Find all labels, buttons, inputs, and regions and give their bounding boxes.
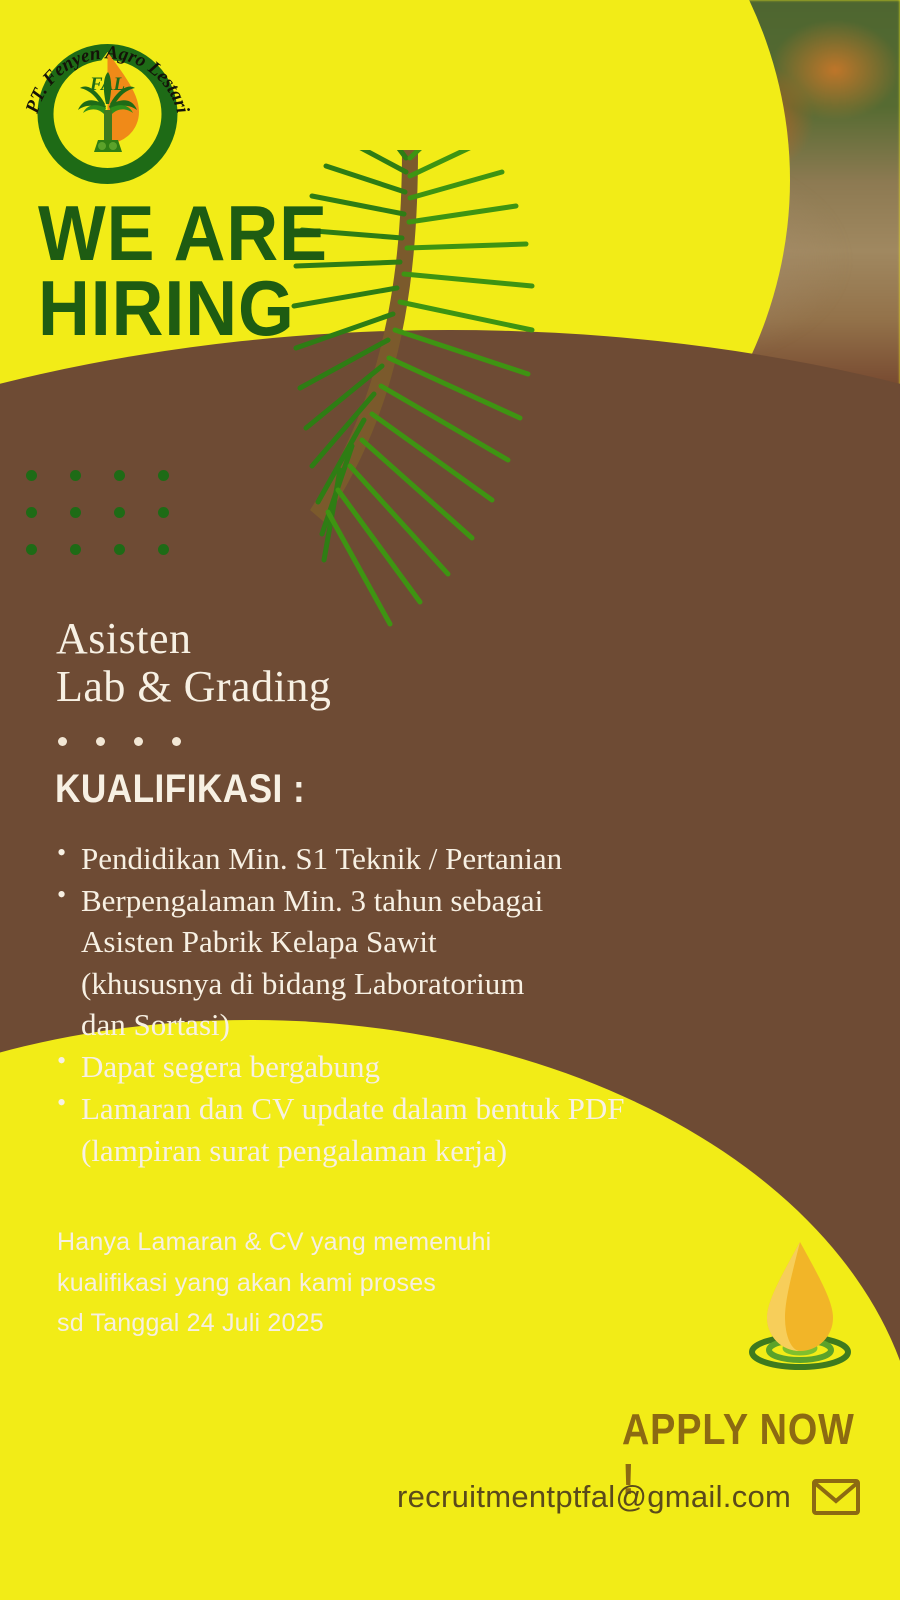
qualification-item: Berpengalaman Min. 3 tahun sebagaiAsiste… xyxy=(55,880,845,1045)
job-title-line-1: Asisten xyxy=(56,615,331,663)
dot-grid-decoration xyxy=(26,470,176,581)
qualification-continuation: Asisten Pabrik Kelapa Sawit xyxy=(81,921,845,962)
qualification-item: Pendidikan Min. S1 Teknik / Pertanian xyxy=(55,838,845,879)
qualifications-heading: KUALIFIKASI : xyxy=(55,767,305,812)
qualification-item: Lamaran dan CV update dalam bentuk PDF(l… xyxy=(55,1088,845,1170)
job-title: Asisten Lab & Grading xyxy=(56,615,331,710)
qualification-text: Berpengalaman Min. 3 tahun sebagai xyxy=(81,883,543,918)
envelope-icon xyxy=(811,1478,861,1516)
page-title: WE ARE HIRING xyxy=(38,196,328,346)
oil-drop-icon xyxy=(735,1230,865,1375)
note-line-3: sd Tanggal 24 Juli 2025 xyxy=(57,1303,491,1344)
job-title-line-2: Lab & Grading xyxy=(56,663,331,711)
dot-row-decoration xyxy=(58,737,181,746)
qualification-item: Dapat segera bergabung xyxy=(55,1046,845,1087)
note-line-2: kualifikasi yang akan kami proses xyxy=(57,1263,491,1304)
email-address[interactable]: recruitmentptfal@gmail.com xyxy=(397,1479,791,1515)
email-contact[interactable]: recruitmentptfal@gmail.com xyxy=(397,1478,861,1516)
headline-line-2: HIRING xyxy=(38,271,328,346)
qualifications-list: Pendidikan Min. S1 Teknik / PertanianBer… xyxy=(55,838,845,1172)
qualification-text: Lamaran dan CV update dalam bentuk PDF xyxy=(81,1091,625,1126)
qualification-continuation: (lampiran surat pengalaman kerja) xyxy=(81,1130,845,1171)
qualification-continuation: (khususnya di bidang Laboratorium xyxy=(81,963,845,1004)
qualification-text: Dapat segera bergabung xyxy=(81,1049,380,1084)
recruitment-poster: FAL PT. Fenyen Agro Lestari WE ARE HIRIN… xyxy=(0,0,900,1600)
qualification-text: Pendidikan Min. S1 Teknik / Pertanian xyxy=(81,841,562,876)
logo-initials: FAL xyxy=(89,74,125,95)
note-line-1: Hanya Lamaran & CV yang memenuhi xyxy=(57,1222,491,1263)
application-note: Hanya Lamaran & CV yang memenuhi kualifi… xyxy=(57,1222,491,1344)
company-logo: FAL PT. Fenyen Agro Lestari xyxy=(20,18,195,188)
qualification-continuation: dan Sortasi) xyxy=(81,1004,845,1045)
